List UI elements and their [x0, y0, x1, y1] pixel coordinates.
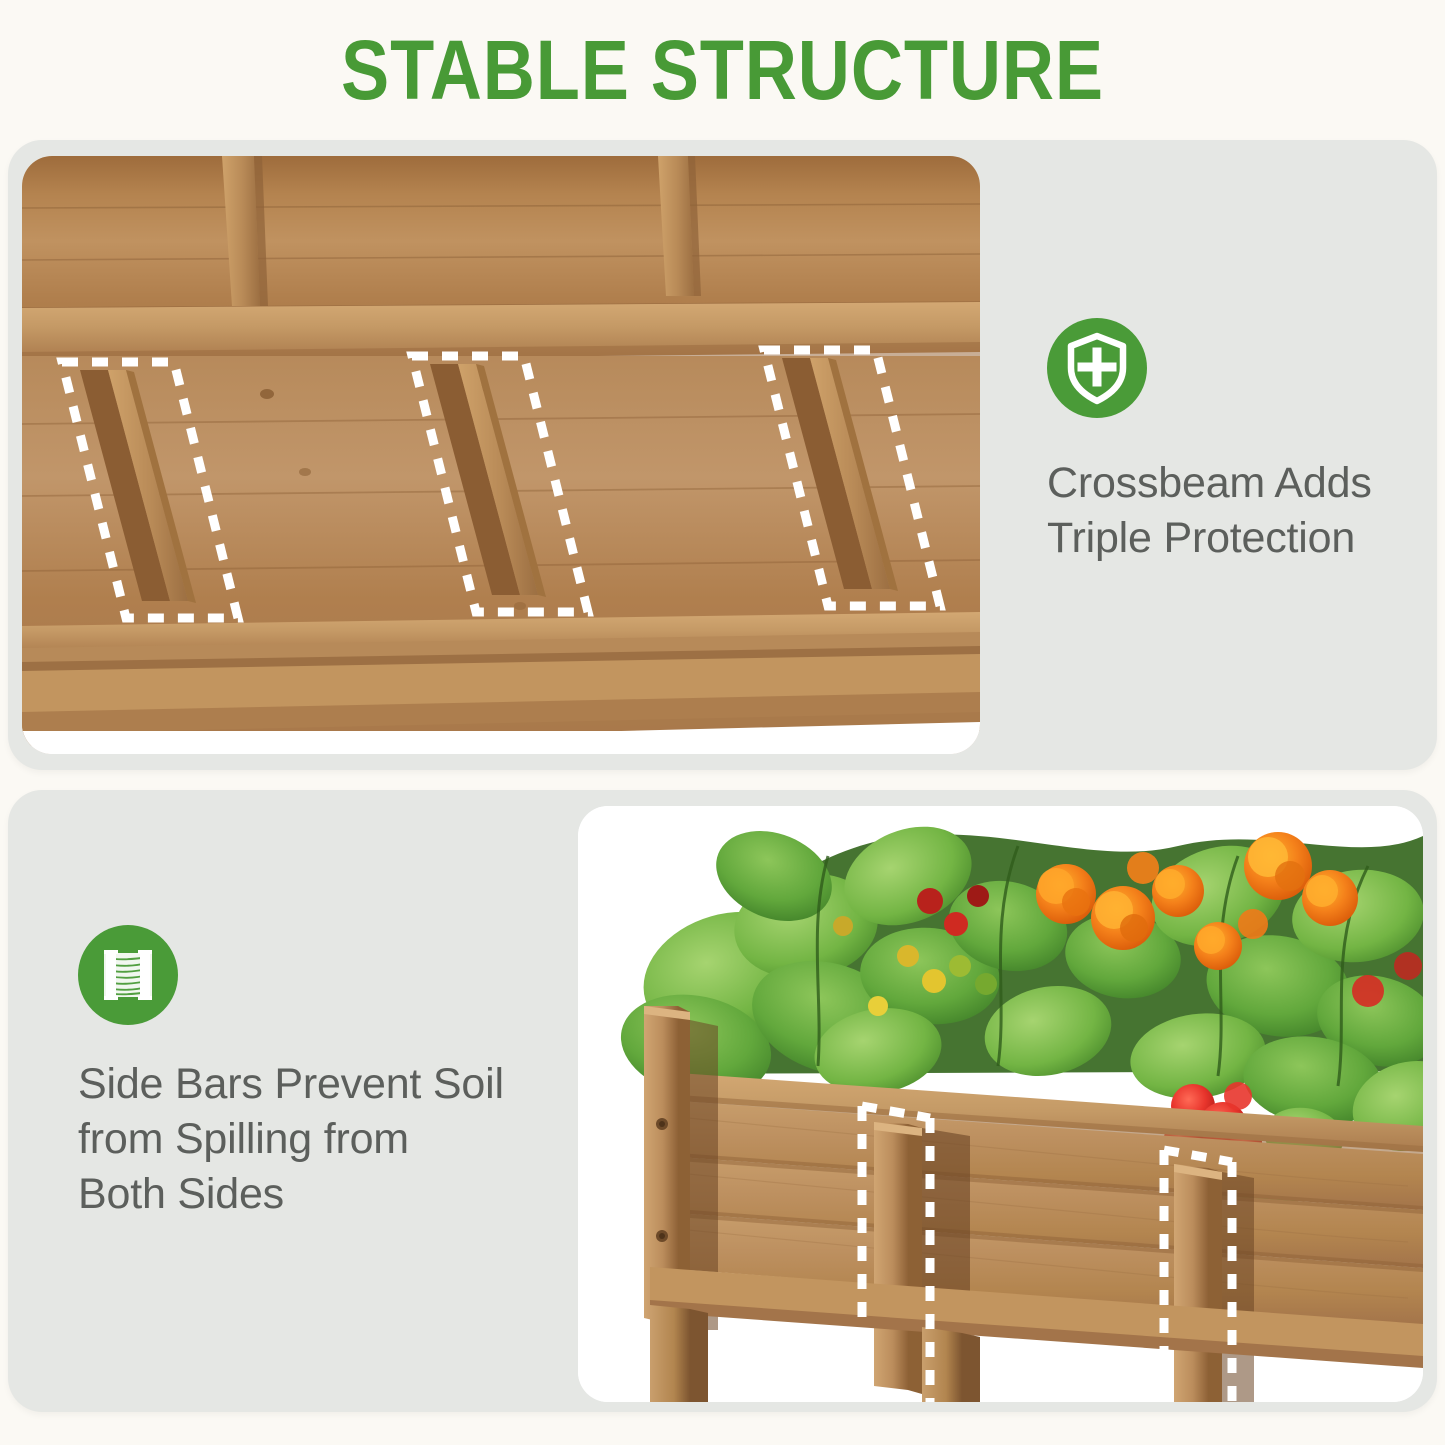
caption-line-1: Crossbeam Adds [1047, 456, 1412, 511]
crossbeam-underside-illustration [22, 156, 980, 754]
feature-side-bars: Side Bars Prevent Soil from Spilling fro… [78, 925, 548, 1222]
page-title: STABLE STRUCTURE [101, 28, 1344, 112]
panel-crossbeam: Crossbeam Adds Triple Protection [8, 140, 1437, 770]
side-bars-image-card [578, 806, 1423, 1402]
crossbeam-image-card [22, 156, 980, 754]
planter-with-plants-illustration [578, 806, 1423, 1402]
shield-plus-icon [1047, 318, 1147, 418]
feature-crossbeam-caption: Crossbeam Adds Triple Protection [1047, 456, 1412, 566]
caption-line-3: Both Sides [78, 1167, 548, 1222]
feature-crossbeam: Crossbeam Adds Triple Protection [1047, 318, 1412, 566]
caption-line-1: Side Bars Prevent Soil [78, 1057, 548, 1112]
wood-side-bars-icon [78, 925, 178, 1025]
caption-line-2: from Spilling from [78, 1112, 548, 1167]
feature-side-bars-caption: Side Bars Prevent Soil from Spilling fro… [78, 1057, 548, 1222]
caption-line-2: Triple Protection [1047, 511, 1412, 566]
panel-side-bars: Side Bars Prevent Soil from Spilling fro… [8, 790, 1437, 1412]
